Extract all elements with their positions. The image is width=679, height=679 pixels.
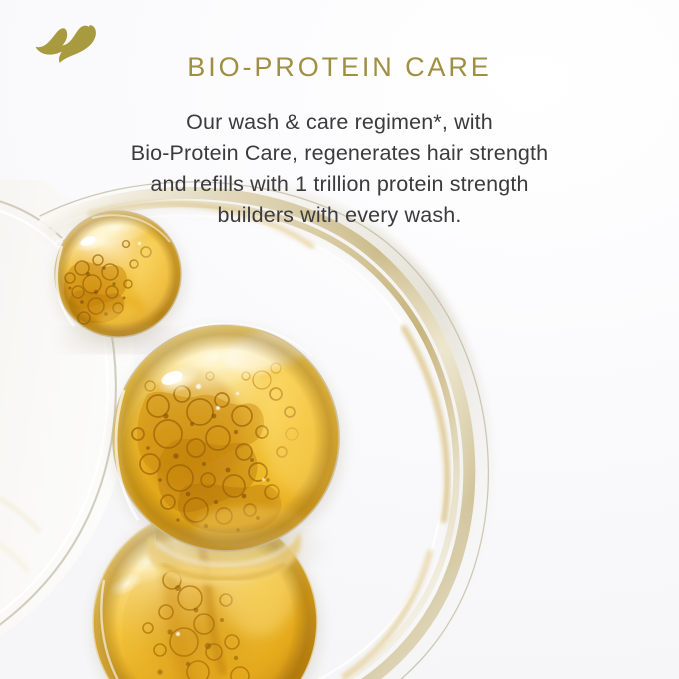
- page-title: BIO-PROTEIN CARE: [60, 53, 620, 83]
- product-artwork: [0, 180, 679, 679]
- advertisement-canvas: BIO-PROTEIN CARE Our wash & care regimen…: [0, 0, 679, 679]
- body-copy: Our wash & care regimen*, with Bio-Prote…: [60, 107, 620, 231]
- copy-block: BIO-PROTEIN CARE Our wash & care regimen…: [60, 53, 620, 231]
- body-copy-line: builders with every wash.: [60, 200, 620, 231]
- body-copy-line: Bio-Protein Care, regenerates hair stren…: [60, 138, 620, 169]
- body-copy-line: Our wash & care regimen*, with: [60, 107, 620, 138]
- body-copy-line: and refills with 1 trillion protein stre…: [60, 169, 620, 200]
